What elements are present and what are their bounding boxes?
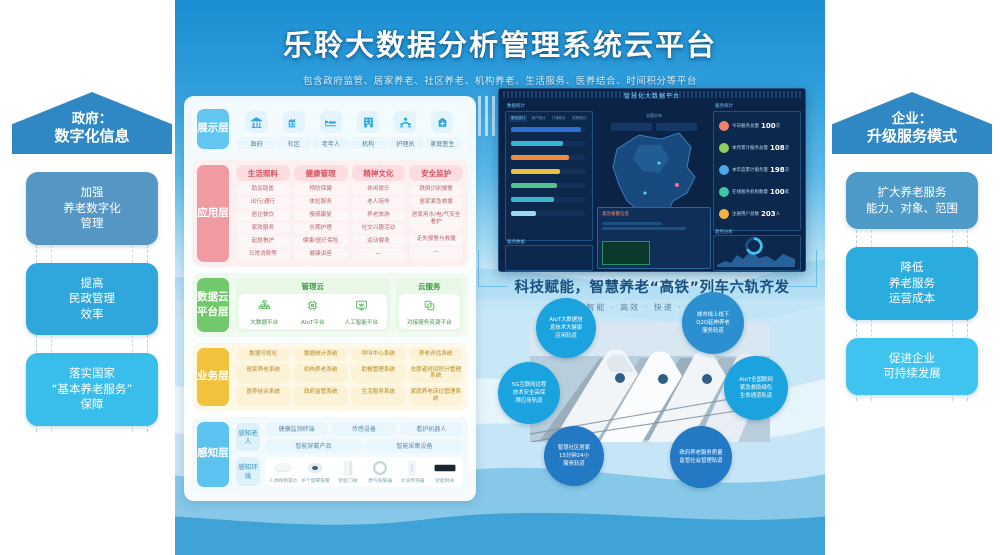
ai-screen-icon: [355, 299, 368, 312]
aiot-platform-item[interactable]: AIoT平台: [289, 297, 338, 326]
radar-device-icon: [267, 460, 299, 476]
dashboard-stat-item: 今日服务总量100次: [719, 121, 795, 131]
perception-environment-tag: 感知环境: [236, 457, 260, 486]
perception-layer-name: 感知层: [197, 422, 229, 487]
page-header: 乐聆大数据分析管理系统云平台 包含政府监管、居家养老、社区养老、机构养老、生活服…: [0, 0, 1000, 90]
display-item-institution[interactable]: 机构: [350, 111, 387, 149]
train-bubble-6[interactable]: 政府养老服务质量 监管社会管理轨道: [670, 426, 732, 488]
train-bubble-2[interactable]: 5G互联网远程 技术安全高保 障应用轨道: [498, 362, 560, 424]
community-icon: [283, 111, 305, 133]
ai-platform-item-label: 人工智能平台: [337, 318, 386, 326]
dashboard-stat-label: 注册用户总数: [732, 211, 759, 217]
perception-chip[interactable]: 智能穿戴产品: [265, 439, 362, 453]
gov-benefit-2-line3: 效率: [32, 307, 152, 323]
enterprise-column: 企业： 升级服务模式 扩大养老服务 能力、对象、范围 降低 养老服务 运营成本 …: [832, 92, 992, 395]
display-item-government-label: 政府: [238, 137, 275, 149]
business-item[interactable]: 居家养老系统: [236, 364, 291, 383]
app-column-life-care-head: 生活照料: [236, 165, 290, 181]
display-item-elderly[interactable]: 老年人: [312, 111, 349, 149]
dashboard-donut-chart: [743, 235, 765, 257]
dashboard-bar-row: [511, 183, 585, 188]
bubble-5-line1: AIoT全国联网: [739, 376, 772, 384]
app-item[interactable]: 运动健身: [352, 236, 406, 247]
perception-elderly-section: 感知老人 健康监测终端 传感设备 看护机器人 智能穿戴产品 智能采集设备: [236, 422, 463, 453]
ent-benefit-2-line2: 养老服务: [852, 276, 972, 292]
dashboard-bottom-right-title: 趋势分析: [715, 229, 733, 235]
gov-benefit-3: 落实国家 “基本养老服务” 保障: [26, 353, 158, 426]
dashboard-alert-title: 紧急报警信息: [598, 208, 710, 220]
gov-benefit-2-line2: 民政管理: [32, 291, 152, 307]
app-item[interactable]: 体检服务: [294, 197, 348, 208]
perception-layer: 感知层 感知老人 健康监测终端 传感设备 看护机器人 智能穿戴产品 智能采集设备: [192, 417, 468, 492]
caregiver-icon: [394, 111, 416, 133]
ent-benefit-2: 降低 养老服务 运营成本: [846, 247, 978, 320]
water-sensor-icon: [396, 460, 428, 476]
government-column: 政府： 数字化信息 加强 养老数字化 管理 提高 民政管理 效率 落实国家 “基…: [12, 92, 172, 426]
enterprise-arrow-line2: 升级服务模式: [867, 128, 957, 146]
dashboard-stat-label: 在线服务机构数量: [732, 189, 768, 195]
service-resource-item-label: 对接服务资源平台: [400, 318, 459, 326]
connector-dots: [478, 96, 500, 136]
business-item[interactable]: 机构养老系统: [294, 364, 349, 383]
app-item[interactable]: 日常消费等: [236, 249, 290, 260]
app-item[interactable]: 跌倒识别报警: [409, 184, 463, 195]
data-cloud-layer: 数据云平台层 管理云 大数据平台: [192, 273, 468, 337]
display-item-elderly-label: 老年人: [312, 137, 349, 149]
application-layer-name: 应用层: [197, 165, 229, 262]
train-title: 科技赋能，智慧养老“高铁”列车六轨齐发: [492, 276, 812, 297]
device-item-label: 智能门磁: [332, 477, 364, 484]
ent-benefit-1: 扩大养老服务 能力、对象、范围: [846, 172, 978, 229]
app-item[interactable]: 慢病康复: [294, 210, 348, 221]
app-item[interactable]: 长期护理: [294, 223, 348, 234]
perception-chip[interactable]: 智能采集设备: [366, 439, 463, 453]
display-item-community-label: 社区: [275, 137, 312, 149]
bar-tab[interactable]: 订单统计: [550, 115, 568, 122]
bar-tab[interactable]: 用户统计: [529, 115, 547, 122]
app-item[interactable]: 起居看护: [236, 236, 290, 247]
dashboard-stat-dot: [719, 121, 729, 131]
bubble-1-line3: 应用轨道: [549, 332, 582, 340]
bubble-1-line1: AIoT大数据信: [549, 316, 582, 324]
train-bubble-3[interactable]: 智慧社区居家 15分钟24小 服务轨道: [544, 426, 604, 486]
aiot-platform-item-label: AIoT平台: [289, 318, 338, 326]
bubble-3-line1: 智慧社区居家: [558, 444, 590, 452]
device-item[interactable]: 智能门磁: [332, 460, 364, 484]
bubble-4-line3: 服务轨道: [696, 327, 729, 335]
gov-benefit-1: 加强 养老数字化 管理: [26, 172, 158, 245]
dashboard-stat-dot: [719, 143, 729, 153]
device-item-label: 护个烟雾报警: [299, 477, 331, 484]
dashboard-stat-dot: [719, 165, 729, 175]
display-item-community[interactable]: 社区: [275, 111, 312, 149]
perception-chip[interactable]: 看护机器人: [400, 422, 463, 436]
elderly-bed-icon: [320, 111, 342, 133]
dashboard-stat-dot: [719, 209, 729, 219]
bubble-6-line2: 监管社会管理轨道: [679, 457, 722, 465]
dashboard-stat-dot: [719, 187, 729, 197]
business-item[interactable]: 医养结合系统: [236, 386, 291, 405]
dashboard-bar-row: [511, 141, 585, 146]
dashboard-left-panel-title: 数据统计: [507, 103, 525, 109]
smoke-alarm-icon: [299, 460, 331, 476]
train-section: 科技赋能，智慧养老“高铁”列车六轨齐发 智能 · 高效 · 快速 · 有保障: [492, 276, 812, 488]
data-platform-item-label: 大数据平台: [240, 318, 289, 326]
gas-alarm-icon: [364, 460, 396, 476]
dashboard-bar-row: [511, 211, 585, 216]
bubble-1-line2: 息技术大健康: [549, 324, 582, 332]
ent-benefit-1-line2: 能力、对象、范围: [852, 201, 972, 217]
app-item[interactable]: 助浴助医: [236, 184, 290, 195]
management-cloud-group: 管理云 大数据平台: [236, 278, 390, 332]
dashboard-bar-fill: [511, 211, 536, 216]
business-item[interactable]: 呼叫中心系统: [351, 348, 406, 361]
gov-benefit-1-line3: 管理: [32, 216, 152, 232]
device-item[interactable]: 燃气报警器: [364, 460, 396, 484]
cloud-link-icon: [423, 299, 436, 312]
dashboard-bottom-left-title: 服务数据: [507, 239, 525, 245]
dashboard-bar-fill: [511, 183, 557, 188]
perception-environment-section: 感知环境 人体跌倒雷达: [236, 457, 463, 487]
app-item[interactable]: 居家紧急救援: [409, 197, 463, 208]
app-item[interactable]: 出行/通行: [236, 197, 290, 208]
page-subtitle: 包含政府监管、居家养老、社区养老、机构养老、生活服务、医养结合、时间积分等平台: [0, 73, 1000, 87]
display-item-caregiver[interactable]: 护理员: [387, 111, 424, 149]
dashboard-title: 智慧化大数据平台: [499, 91, 805, 100]
ent-benefit-3: 促进企业 可持续发展: [846, 338, 978, 395]
enterprise-arrow: 企业： 升级服务模式: [832, 92, 992, 154]
bubble-2-line2: 技术安全高保: [512, 389, 547, 397]
app-item[interactable]: 居住餐饮: [236, 210, 290, 221]
dashboard-bar-fill: [511, 197, 554, 202]
government-arrow-line2: 数字化信息: [54, 128, 129, 146]
app-item[interactable]: 社交兴趣活动: [352, 223, 406, 234]
business-item[interactable]: 生活服务系统: [351, 386, 406, 405]
bubble-5-line2: 紧急救助绿色: [739, 384, 772, 392]
gov-benefit-3-line2: “基本养老服务”: [32, 382, 152, 398]
business-item[interactable]: 志愿者时间积分管理系统: [409, 364, 464, 383]
app-item[interactable]: 养老旅游: [352, 210, 406, 221]
management-cloud-head: 管理云: [239, 281, 387, 292]
dashboard-stat-item: 在线服务机构数量100家: [719, 187, 795, 197]
device-item[interactable]: 人体跌倒雷达: [267, 460, 299, 484]
dashboard-stat-item: 本年度累计服务量198次: [719, 165, 795, 175]
dashboard-stat-value: 203: [761, 210, 776, 218]
bubble-2-line3: 障应用轨道: [512, 397, 547, 405]
page-title: 乐聆大数据分析管理系统云平台: [0, 22, 1000, 64]
dashboard-bar-fill: [511, 127, 581, 132]
app-item[interactable]: 家政服务: [236, 223, 290, 234]
dashboard-stat-value: 100: [761, 122, 776, 130]
door-sensor-icon: [332, 460, 364, 476]
ent-benefit-2-line3: 运营成本: [852, 291, 972, 307]
bubble-6-line1: 政府养老服务质量: [679, 449, 722, 457]
display-item-institution-label: 机构: [350, 137, 387, 149]
app-item[interactable]: 健康/医疗保险: [294, 236, 348, 247]
dashboard-stat-unit: 次: [776, 123, 781, 129]
ent-benefit-3-line2: 可持续发展: [852, 366, 972, 382]
dashboard-stat-value: 100: [770, 188, 785, 196]
dashboard-center-kpis: 全国分布: [611, 113, 697, 131]
application-layer: 应用层 生活照料 助浴助医 出行/通行 居住餐饮 家政服务 起居看护 日常消费等…: [192, 160, 468, 267]
display-layer-name: 展示层: [197, 109, 229, 149]
app-column-health: 健康管理 预防保健 体检服务 慢病康复 长期护理 健康/医疗保险 健康讲座: [294, 165, 348, 262]
app-item[interactable]: 预防保健: [294, 184, 348, 195]
dashboard-stat-label: 今日服务总量: [732, 123, 759, 129]
bubble-4-line1: 城市线上线下: [696, 311, 729, 319]
architecture-card: 展示层 政府 社区: [184, 96, 476, 501]
display-layer: 展示层 政府 社区: [192, 104, 468, 154]
government-arrow: 政府： 数字化信息: [12, 92, 172, 154]
cloud-service-head: 云服务: [399, 281, 460, 292]
enterprise-arrow-line1: 企业：: [892, 100, 933, 128]
bubble-2-line1: 5G互联网远程: [512, 381, 547, 389]
app-column-culture: 精神文化 休闲娱乐 老人陪伴 养老旅游 社交兴趣活动 运动健身 —: [352, 165, 406, 262]
device-item[interactable]: 智能网关: [429, 460, 461, 484]
gov-benefit-1-line1: 加强: [32, 185, 152, 201]
dashboard-screenshot: 智慧化大数据平台 数据统计 服务统计 用户统计 订单统计 机构统计 全国分布: [498, 88, 806, 272]
bubble-4-line2: O2O延伸养老: [696, 319, 729, 327]
ent-benefit-1-line1: 扩大养老服务: [852, 185, 972, 201]
data-platform-item[interactable]: 大数据平台: [240, 297, 289, 326]
business-item[interactable]: 助餐管理系统: [351, 364, 406, 383]
device-item[interactable]: 护个烟雾报警: [299, 460, 331, 484]
ai-platform-item[interactable]: 人工智能平台: [337, 297, 386, 326]
business-item[interactable]: 养老评估系统: [409, 348, 464, 361]
app-item: —: [352, 249, 406, 260]
business-item[interactable]: 数据可视化: [236, 348, 291, 361]
app-item[interactable]: 健康讲座: [294, 249, 348, 260]
train-bubble-5[interactable]: AIoT全国联网 紧急救助绿色 生命通道轨道: [724, 356, 788, 420]
display-item-caregiver-label: 护理员: [387, 137, 424, 149]
gov-benefit-3-line1: 落实国家: [32, 366, 152, 382]
dashboard-right-panel-title: 服务统计: [715, 103, 733, 109]
app-column-life-care: 生活照料 助浴助医 出行/通行 居住餐饮 家政服务 起居看护 日常消费等: [236, 165, 290, 262]
dashboard-bar-tabs[interactable]: 服务统计 用户统计 订单统计 机构统计: [509, 115, 589, 122]
app-item: —: [409, 247, 463, 258]
dashboard-alert-panel: 紧急报警信息: [597, 207, 711, 269]
app-column-health-head: 健康管理: [294, 165, 348, 181]
ent-benefit-3-line1: 促进企业: [852, 351, 972, 367]
device-item-label: 人体跌倒雷达: [267, 477, 299, 484]
perception-chip[interactable]: 健康监测终端: [265, 422, 328, 436]
bar-tab[interactable]: 机构统计: [570, 115, 588, 122]
business-item[interactable]: 政府监管系统: [294, 386, 349, 405]
dashboard-bar-fill: [511, 169, 560, 174]
gov-benefit-1-line2: 养老数字化: [32, 201, 152, 217]
family-doctor-icon: [431, 111, 453, 133]
dashboard-bar-row: [511, 169, 585, 174]
business-item[interactable]: 数据统计系统: [294, 348, 349, 361]
dashboard-stat-unit: 家: [785, 189, 790, 195]
app-item[interactable]: 居家用水/电/气安全看护: [409, 210, 463, 232]
dashboard-bottom-left-panel: [505, 245, 593, 271]
app-item[interactable]: 走失报警与救援: [409, 234, 463, 245]
gateway-icon: [429, 460, 461, 476]
dashboard-stat-item: 本月累计服务总量108次: [719, 143, 795, 153]
app-item[interactable]: 老人陪伴: [352, 197, 406, 208]
bubble-3-line2: 15分钟24小: [558, 452, 590, 460]
government-icon: [246, 111, 268, 133]
dashboard-bar-row: [511, 127, 585, 132]
app-column-safety-head: 安全监护: [409, 165, 463, 181]
perception-chip[interactable]: 传感设备: [332, 422, 395, 436]
dashboard-stat-unit: 次: [785, 145, 790, 151]
dashboard-stat-label: 本月累计服务总量: [732, 145, 768, 151]
display-item-family-doctor-label: 家庭医生: [424, 137, 461, 149]
government-arrow-line1: 政府：: [72, 100, 113, 128]
bar-tab[interactable]: 服务统计: [509, 115, 527, 122]
perception-elderly-tag: 感知老人: [236, 423, 260, 452]
display-item-government[interactable]: 政府: [238, 111, 275, 149]
business-layer-name: 业务层: [197, 348, 229, 406]
bubble-3-line3: 服务轨道: [558, 460, 590, 468]
gov-benefit-2: 提高 民政管理 效率: [26, 263, 158, 336]
dashboard-stat-unit: 人: [776, 211, 781, 217]
dashboard-stat-unit: 次: [785, 167, 790, 173]
data-network-icon: [258, 299, 271, 312]
business-item[interactable]: 家庭养老床位管理系统: [409, 386, 464, 405]
dashboard-stat-label: 本年度累计服务量: [732, 167, 768, 173]
device-item[interactable]: 水浸传感器: [396, 460, 428, 484]
chip-icon: [306, 299, 319, 312]
ent-benefit-2-line1: 降低: [852, 260, 972, 276]
bubble-5-line3: 生命通道轨道: [739, 392, 772, 400]
dashboard-bar-fill: [511, 141, 563, 146]
gov-benefit-3-line3: 保障: [32, 397, 152, 413]
dashboard-stat-value: 198: [770, 166, 785, 174]
data-cloud-layer-name: 数据云平台层: [197, 278, 229, 332]
dashboard-stat-value: 108: [770, 144, 785, 152]
device-item-label: 燃气报警器: [364, 477, 396, 484]
display-item-family-doctor[interactable]: 家庭医生: [424, 111, 461, 149]
dashboard-bar-row: [511, 155, 585, 160]
app-item[interactable]: 休闲娱乐: [352, 184, 406, 195]
business-layer: 业务层 数据可视化 数据统计系统 呼叫中心系统 养老评估系统 居家养老系统 机构…: [192, 343, 468, 411]
dashboard-bar-fill: [511, 155, 569, 160]
app-column-safety: 安全监护 跌倒识别报警 居家紧急救援 居家用水/电/气安全看护 走失报警与救援 …: [409, 165, 463, 262]
device-item-label: 智能网关: [429, 477, 461, 484]
cloud-service-group: 云服务 对接服务资源平台: [396, 278, 463, 332]
institution-icon: [357, 111, 379, 133]
gov-benefit-2-line1: 提高: [32, 276, 152, 292]
dashboard-center-title: 全国分布: [611, 113, 697, 119]
train-bubble-4[interactable]: 城市线上线下 O2O延伸养老 服务轨道: [682, 292, 744, 354]
app-column-culture-head: 精神文化: [352, 165, 406, 181]
service-resource-item[interactable]: 对接服务资源平台: [400, 297, 459, 326]
dashboard-stat-item: 注册用户总数203人: [719, 209, 795, 219]
train-bubble-1[interactable]: AIoT大数据信 息技术大健康 应用轨道: [536, 298, 596, 358]
device-item-label: 水浸传感器: [396, 477, 428, 484]
dashboard-bar-row: [511, 197, 585, 202]
